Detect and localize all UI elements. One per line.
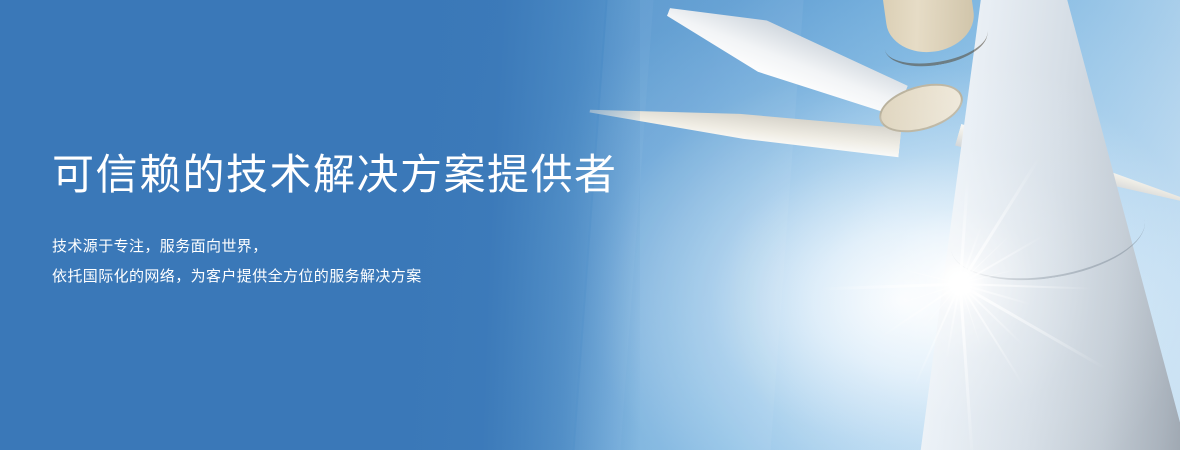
hero-subtitle: 技术源于专注，服务面向世界， 依托国际化的网络，为客户提供全方位的服务解决方案 xyxy=(52,232,672,292)
hero-copy: 可信赖的技术解决方案提供者 技术源于专注，服务面向世界， 依托国际化的网络，为客… xyxy=(52,150,672,292)
subtitle-line-1: 技术源于专注，服务面向世界， xyxy=(52,232,672,262)
hero-banner: 可信赖的技术解决方案提供者 技术源于专注，服务面向世界， 依托国际化的网络，为客… xyxy=(0,0,1180,450)
subtitle-line-2: 依托国际化的网络，为客户提供全方位的服务解决方案 xyxy=(52,262,672,292)
sun-core-icon xyxy=(952,275,969,292)
page-title: 可信赖的技术解决方案提供者 xyxy=(52,150,672,200)
